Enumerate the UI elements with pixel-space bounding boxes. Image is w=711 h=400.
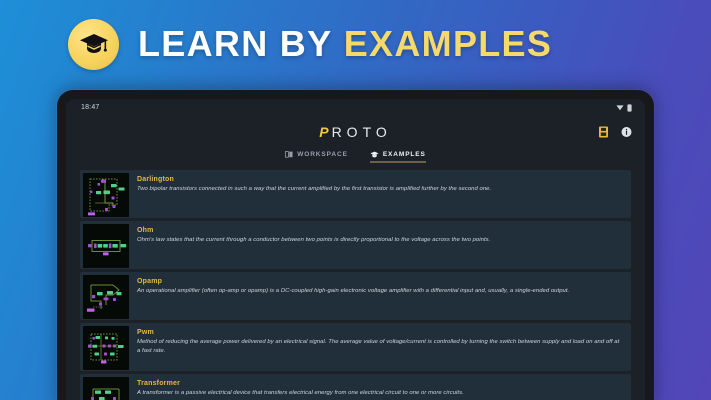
tab-workspace-label: WORKSPACE <box>297 151 348 158</box>
list-item-body: Ohm Ohm's law states that the current th… <box>137 224 496 245</box>
tab-workspace[interactable]: WORKSPACE <box>285 151 348 163</box>
app-title: PROTO <box>319 124 392 140</box>
tab-examples-label: EXAMPLES <box>383 151 426 158</box>
darlington-circuit-thumbnail <box>83 173 129 217</box>
battery-icon <box>627 104 632 112</box>
list-item-body: Darlington Two bipolar transistors conne… <box>137 173 497 194</box>
graduation-cap-icon <box>68 19 119 70</box>
app-bar-actions <box>599 126 632 137</box>
promo-title-part1: LEARN BY <box>138 23 332 64</box>
list-item-description: An operational amplifier (often op-amp o… <box>137 287 569 296</box>
list-item-description: A transformer is a passive electrical de… <box>137 389 464 398</box>
examples-icon <box>370 151 379 158</box>
app-title-initial: P <box>319 124 331 140</box>
list-item-body: Transformer A transformer is a passive e… <box>137 377 470 398</box>
list-item[interactable]: Opamp An operational amplifier (often op… <box>80 272 631 320</box>
list-item[interactable]: Ohm Ohm's law states that the current th… <box>80 221 631 269</box>
workspace-icon <box>285 151 293 158</box>
list-item-body: Opamp An operational amplifier (often op… <box>137 275 575 296</box>
list-item[interactable]: Pwm Method of reducing the average power… <box>80 323 631 371</box>
transformer-circuit-thumbnail <box>83 377 129 400</box>
ohm-circuit-thumbnail <box>83 224 129 268</box>
list-item-description: Method of reducing the average power del… <box>137 338 622 356</box>
status-indicators <box>616 104 632 112</box>
status-time: 18:47 <box>81 104 100 111</box>
list-item-title: Opamp <box>137 278 569 285</box>
tablet-device: 18:47 PROTO <box>57 90 654 400</box>
save-file-icon[interactable] <box>599 126 608 137</box>
promo-title-part2: EXAMPLES <box>344 23 552 64</box>
tab-bar: WORKSPACE EXAMPLES <box>66 147 645 166</box>
promo-header: LEARN BY EXAMPLES <box>0 0 711 88</box>
list-item-body: Pwm Method of reducing the average power… <box>137 326 628 356</box>
wifi-icon <box>616 104 624 111</box>
app-title-rest: ROTO <box>332 124 392 140</box>
tablet-screen: 18:47 PROTO <box>66 99 645 400</box>
promo-title: LEARN BY EXAMPLES <box>138 26 552 62</box>
list-item[interactable]: Transformer A transformer is a passive e… <box>80 374 631 400</box>
list-item-title: Ohm <box>137 227 490 234</box>
examples-list[interactable]: Darlington Two bipolar transistors conne… <box>66 166 645 400</box>
app-bar: PROTO <box>66 116 645 147</box>
pwm-circuit-thumbnail <box>83 326 129 370</box>
list-item[interactable]: Darlington Two bipolar transistors conne… <box>80 170 631 218</box>
list-item-description: Ohm's law states that the current throug… <box>137 236 490 245</box>
list-item-title: Transformer <box>137 380 464 387</box>
info-icon[interactable] <box>621 126 632 137</box>
status-bar: 18:47 <box>66 99 645 116</box>
tab-examples[interactable]: EXAMPLES <box>370 151 426 163</box>
list-item-description: Two bipolar transistors connected in suc… <box>137 185 491 194</box>
list-item-title: Pwm <box>137 329 622 336</box>
opamp-circuit-thumbnail <box>83 275 129 319</box>
list-item-title: Darlington <box>137 176 491 183</box>
